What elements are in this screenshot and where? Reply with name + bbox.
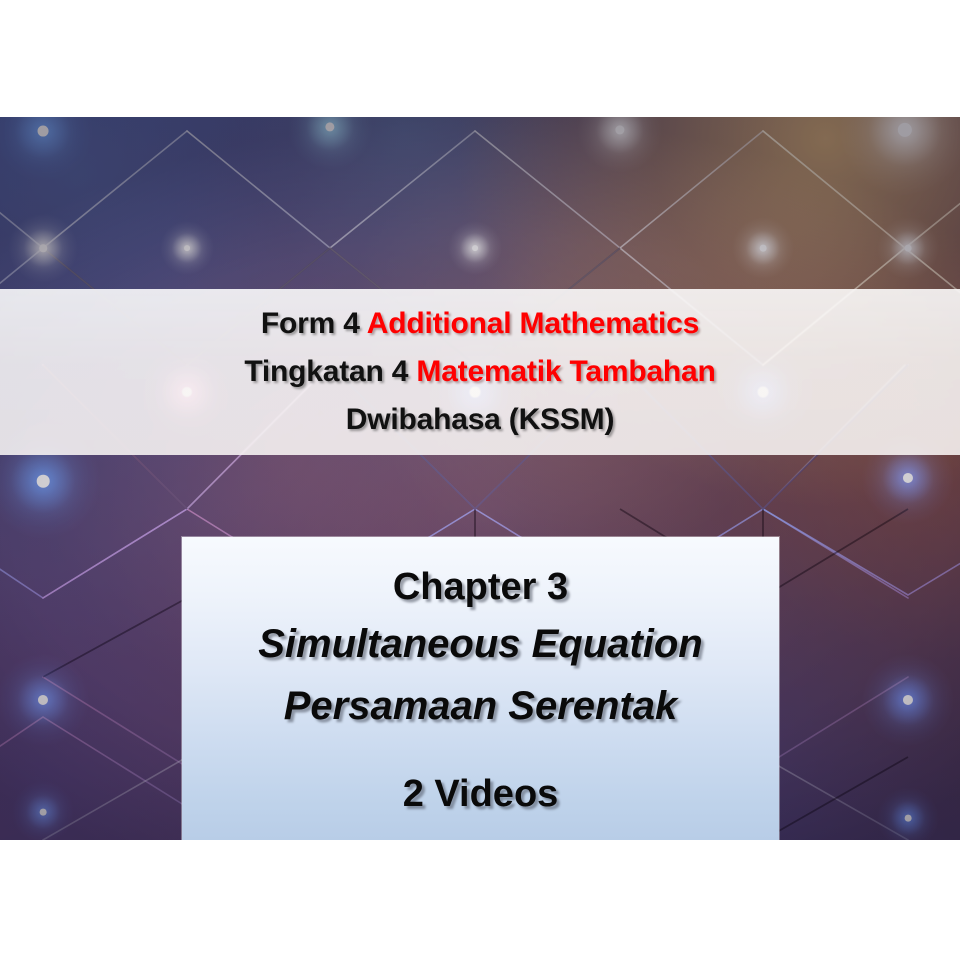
header-banner: Form 4 Additional Mathematics Tingkatan … bbox=[0, 289, 960, 455]
header-line-syllabus: Dwibahasa (KSSM) bbox=[346, 396, 615, 444]
header-line1-plain: Form 4 bbox=[261, 307, 367, 340]
chapter-title-malay: Persamaan Serentak bbox=[284, 675, 678, 737]
poster-canvas: Form 4 Additional Mathematics Tingkatan … bbox=[0, 0, 960, 960]
video-count-label: 2 Videos bbox=[403, 769, 559, 819]
chapter-card: Chapter 3 Simultaneous Equation Persamaa… bbox=[182, 537, 779, 840]
header-line-english: Form 4 Additional Mathematics bbox=[261, 300, 699, 348]
chapter-number: Chapter 3 bbox=[393, 561, 568, 613]
chapter-title-english: Simultaneous Equation bbox=[258, 613, 702, 675]
header-line2-accent: Matematik Tambahan bbox=[416, 355, 715, 388]
header-line-malay: Tingkatan 4 Matematik Tambahan bbox=[244, 348, 715, 396]
header-line1-accent: Additional Mathematics bbox=[367, 307, 699, 340]
header-line2-plain: Tingkatan 4 bbox=[244, 355, 416, 388]
poster-artwork: Form 4 Additional Mathematics Tingkatan … bbox=[0, 117, 960, 840]
